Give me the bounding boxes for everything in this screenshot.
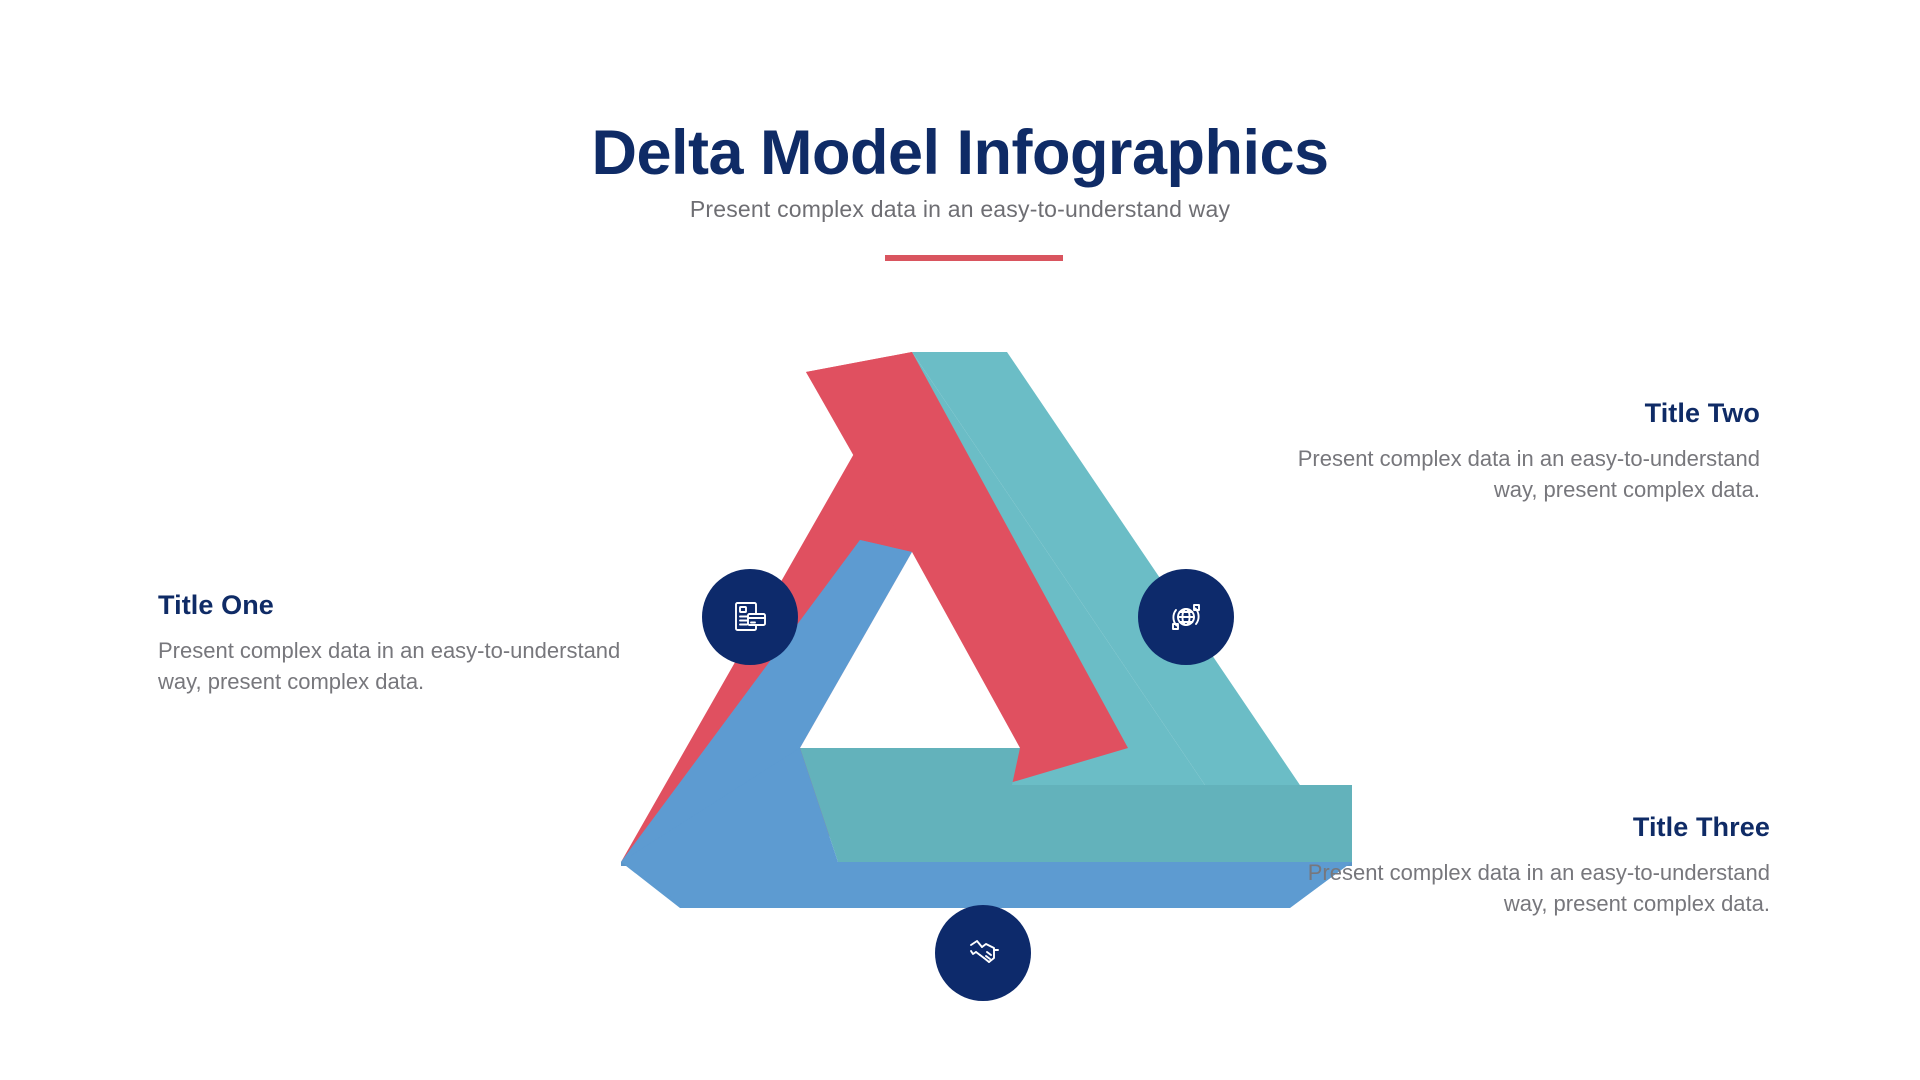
block-one-title: Title One (158, 590, 628, 621)
blue-top-run (800, 748, 1352, 862)
blue-beam-base (623, 862, 1352, 905)
red-beam-inner (800, 352, 1128, 748)
blue-base-face (621, 862, 1352, 908)
teal-shelf-overlay (840, 782, 1352, 858)
slide-canvas: Delta Model Infographics Present complex… (0, 0, 1920, 1080)
teal-beam-shelf (840, 785, 1352, 860)
teal-beam-inner (902, 352, 1352, 785)
content-block-two: Title Two Present complex data in an eas… (1290, 398, 1760, 505)
left-beam-full (620, 352, 1128, 862)
right-beam-inner-shelf (838, 782, 1352, 858)
blue-run-face (621, 862, 1352, 866)
block-three-title: Title Three (1300, 812, 1770, 843)
left-beam-body (806, 352, 1125, 742)
red-beam-cap (806, 352, 1128, 748)
inner-triangle-hole (800, 552, 1020, 745)
block-one-body: Present complex data in an easy-to-under… (158, 635, 628, 697)
right-beam-descender (912, 352, 1352, 859)
globe-network-icon (1164, 595, 1208, 639)
icon-badge-two[interactable] (1138, 569, 1234, 665)
block-two-title: Title Two (1290, 398, 1760, 429)
teal-inner-face (912, 352, 1352, 862)
right-beam-top-face (912, 352, 1345, 862)
page-subtitle: Present complex data in an easy-to-under… (0, 196, 1920, 223)
handshake-icon (961, 931, 1005, 975)
left-beam-shade (812, 352, 1128, 745)
title-underline-rule (885, 255, 1063, 261)
blue-left-run (621, 748, 838, 862)
bottom-beam-main (623, 862, 1352, 866)
teal-top-face (912, 352, 1352, 862)
page-title: Delta Model Infographics (0, 120, 1920, 186)
red-overlay (802, 352, 1128, 745)
block-three-body: Present complex data in an easy-to-under… (1300, 857, 1770, 919)
right-beam-face (912, 352, 1352, 862)
content-block-three: Title Three Present complex data in an e… (1300, 812, 1770, 919)
teal-shelf-face (838, 785, 1352, 862)
red-right-face (806, 352, 1128, 748)
blue-beam-body (623, 862, 1352, 866)
red-left-face (621, 352, 1128, 862)
blue-bottom-slab (621, 862, 1352, 906)
inner-hole (800, 552, 1020, 748)
content-block-one: Title One Present complex data in an eas… (158, 590, 628, 697)
document-card-icon (728, 595, 772, 639)
block-two-body: Present complex data in an easy-to-under… (1290, 443, 1760, 505)
penrose-clean (560, 330, 1390, 930)
icon-badge-one[interactable] (702, 569, 798, 665)
icon-badge-three[interactable] (935, 905, 1031, 1001)
bottom-beam-lower-slab (623, 862, 1352, 866)
right-beam-main (912, 352, 1352, 858)
right-beam-outer (900, 352, 1352, 862)
teal-beam-outer (915, 352, 1352, 860)
blue-beam-run2 (623, 862, 1352, 866)
teal-inner-band (700, 748, 1352, 862)
